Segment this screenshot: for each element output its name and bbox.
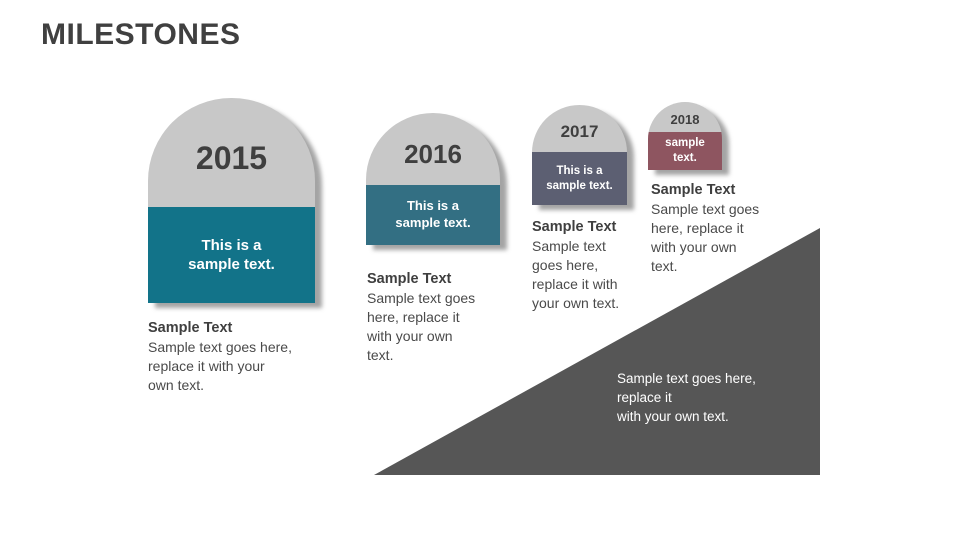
milestone-inner-text: This is a sample text.: [395, 198, 470, 231]
milestone-year-label: 2018: [671, 112, 700, 127]
marker-top-section: 2015: [148, 98, 315, 207]
milestone-marker-2015[interactable]: 2015 This is a sample text.: [148, 98, 315, 303]
milestone-caption-2017: Sample Text Sample text goes here, repla…: [532, 218, 642, 313]
milestone-inner-text: sample text.: [665, 136, 705, 165]
slide-canvas: Sample text goes here, replace it with y…: [0, 0, 960, 540]
marker-body: 2018 sample text.: [648, 102, 722, 170]
marker-accent-section: This is a sample text.: [366, 185, 500, 245]
caption-body: Sample text goes here, replace it with y…: [532, 237, 642, 313]
caption-heading: Sample Text: [532, 218, 642, 237]
caption-heading: Sample Text: [148, 319, 318, 338]
marker-body: 2015 This is a sample text.: [148, 98, 315, 303]
milestone-caption-2015: Sample Text Sample text goes here, repla…: [148, 319, 318, 395]
milestone-marker-2017[interactable]: 2017 This is a sample text.: [532, 105, 627, 205]
marker-accent-section: This is a sample text.: [532, 152, 627, 205]
marker-top-section: 2018: [648, 102, 722, 132]
marker-accent-section: This is a sample text.: [148, 207, 315, 303]
milestone-caption-2018: Sample Text Sample text goes here, repla…: [651, 181, 776, 276]
milestone-marker-2018[interactable]: 2018 sample text.: [648, 102, 722, 170]
caption-body: Sample text goes here, replace it with y…: [367, 289, 492, 365]
milestone-caption-2016: Sample Text Sample text goes here, repla…: [367, 270, 492, 365]
marker-top-section: 2016: [366, 113, 500, 185]
page-title: MILESTONES: [41, 18, 240, 52]
caption-heading: Sample Text: [651, 181, 776, 200]
marker-top-section: 2017: [532, 105, 627, 152]
marker-body: 2017 This is a sample text.: [532, 105, 627, 205]
wedge-caption-text: Sample text goes here, replace it with y…: [617, 369, 756, 426]
milestone-year-label: 2016: [404, 139, 462, 170]
caption-body: Sample text goes here, replace it with y…: [651, 200, 776, 276]
milestone-year-label: 2015: [196, 140, 267, 177]
caption-heading: Sample Text: [367, 270, 492, 289]
milestone-inner-text: This is a sample text.: [188, 236, 275, 274]
marker-accent-section: sample text.: [648, 132, 722, 170]
milestone-marker-2016[interactable]: 2016 This is a sample text.: [366, 113, 500, 245]
marker-body: 2016 This is a sample text.: [366, 113, 500, 245]
caption-body: Sample text goes here, replace it with y…: [148, 338, 318, 395]
milestone-year-label: 2017: [561, 122, 599, 142]
milestone-inner-text: This is a sample text.: [546, 164, 612, 193]
